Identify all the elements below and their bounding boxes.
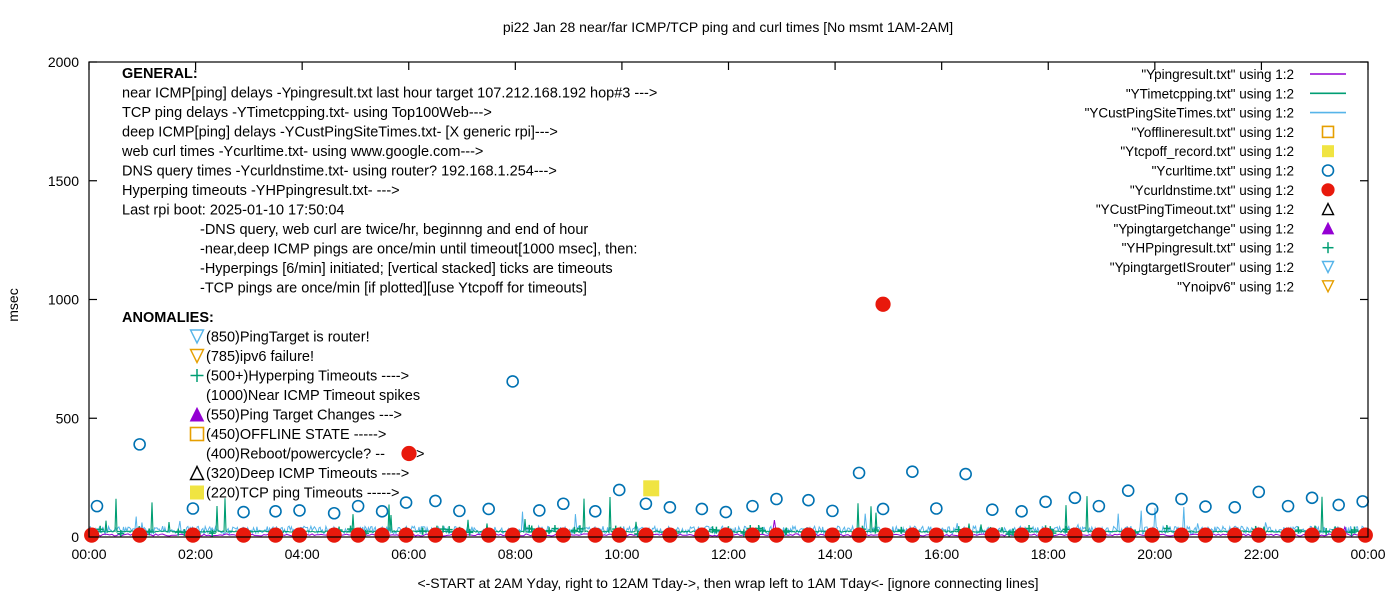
curldnstime-point	[1281, 528, 1295, 542]
curltime-point	[483, 503, 494, 514]
curltime-point	[720, 507, 731, 518]
curldnstime-point	[236, 528, 250, 542]
curldnstime-point	[879, 528, 893, 542]
x-tick-label: 08:00	[498, 546, 533, 562]
curldnstime-point	[825, 528, 839, 542]
curltime-point	[664, 502, 675, 513]
legend-marker	[1323, 204, 1334, 215]
curldnstime-point	[1358, 528, 1372, 542]
curltime-point	[1147, 503, 1158, 514]
curltime-point	[1040, 496, 1051, 507]
legend-label: "YHPpingresult.txt" using 1:2	[1122, 241, 1294, 256]
x-tick-label: 14:00	[818, 546, 853, 562]
y-tick-label: 1500	[48, 173, 79, 189]
general-indented-line: -DNS query, web curl are twice/hr, begin…	[200, 222, 588, 238]
curltime-point	[1176, 494, 1187, 505]
curltime-point	[134, 439, 145, 450]
curltime-point	[1229, 502, 1240, 513]
legend-label: "YpingtargetISrouter" using 1:2	[1110, 260, 1294, 275]
curltime-point	[507, 376, 518, 387]
curldnstime-point	[556, 528, 570, 542]
y-tick-label: 1000	[48, 292, 79, 308]
y-tick-label: 500	[56, 410, 80, 426]
y-axis-label: msec	[5, 288, 21, 321]
curldnstime-point	[1198, 528, 1212, 542]
curltime-point	[401, 497, 412, 508]
curltime-point	[454, 505, 465, 516]
anomaly-marker	[191, 486, 204, 499]
curldnstime-point	[186, 528, 200, 542]
curldnstime-point	[1121, 528, 1135, 542]
x-tick-label: 12:00	[711, 546, 746, 562]
legend-label: "Ycurltime.txt" using 1:2	[1152, 164, 1294, 179]
curldnstime-point	[719, 528, 733, 542]
curldnstime-point	[612, 528, 626, 542]
legend-marker	[1323, 281, 1334, 292]
curldnstime-point	[292, 528, 306, 542]
curldnstime-point	[852, 528, 866, 542]
curltime-point	[430, 495, 441, 506]
curldnstime-point	[1332, 528, 1346, 542]
annotation-general: GENERAL:near ICMP[ping] delays -Ypingres…	[121, 66, 657, 297]
curldnstime-point	[663, 528, 677, 542]
general-indented-line: -TCP pings are once/min [if plotted][use…	[200, 281, 587, 297]
general-line: Last rpi boot: 2025-01-10 17:50:04	[122, 203, 345, 219]
anomaly-label: (500+)Hyperping Timeouts ---->	[206, 369, 409, 385]
legend-label: "YCustPingSiteTimes.txt" using 1:2	[1085, 106, 1294, 121]
curldnstime-point	[375, 528, 389, 542]
legend-marker	[1323, 126, 1334, 137]
curltime-point	[827, 505, 838, 516]
curldnstime-point	[482, 528, 496, 542]
anomaly-label: (550)Ping Target Changes --->	[206, 408, 402, 424]
curltime-point	[907, 466, 918, 477]
curldnstime-point	[85, 528, 99, 542]
curldnstime-point	[532, 528, 546, 542]
curldnstime-point	[133, 528, 147, 542]
anomaly-label: (850)PingTarget is router!	[206, 330, 370, 346]
curldnstime-point	[745, 528, 759, 542]
anomaly-marker	[191, 428, 204, 441]
curltime-point	[329, 508, 340, 519]
legend-label: "YTimetcpping.txt" using 1:2	[1126, 86, 1294, 101]
curltime-point	[590, 506, 601, 517]
curldnstime-point	[588, 528, 602, 542]
anomaly-label: (450)OFFLINE STATE ----->	[206, 427, 386, 443]
legend-marker	[1323, 146, 1334, 157]
curldnstime-point	[268, 528, 282, 542]
curldnstime-point	[905, 528, 919, 542]
x-tick-label: 16:00	[924, 546, 959, 562]
curldnstime-point	[351, 528, 365, 542]
general-line: web curl times -Ycurltime.txt- using www…	[121, 144, 483, 160]
anomalies-heading: ANOMALIES:	[122, 310, 214, 326]
curldnstime-point	[695, 528, 709, 542]
x-tick-label: 20:00	[1137, 546, 1172, 562]
curltime-point	[91, 501, 102, 512]
tcpoff-point	[644, 481, 659, 496]
anomaly-label: (1000)Near ICMP Timeout spikes	[206, 388, 420, 404]
legend-marker	[1323, 223, 1334, 234]
curltime-point	[238, 507, 249, 518]
chart-title: pi22 Jan 28 near/far ICMP/TCP ping and c…	[503, 19, 953, 35]
curldnstime-point	[801, 528, 815, 542]
anomaly-marker	[191, 369, 204, 382]
curldnstime-point	[985, 528, 999, 542]
general-line: Hyperping timeouts -YHPpingresult.txt- -…	[122, 183, 400, 199]
x-tick-label: 02:00	[178, 546, 213, 562]
curltime-point	[696, 503, 707, 514]
y-tick-label: 0	[71, 529, 79, 545]
anomaly-marker	[191, 467, 204, 480]
curltime-point	[1283, 501, 1294, 512]
anomaly-reboot-suffix: >	[416, 447, 424, 463]
chart-root: pi22 Jan 28 near/far ICMP/TCP ping and c…	[0, 0, 1400, 600]
curltime-point	[878, 503, 889, 514]
curltime-point	[614, 484, 625, 495]
anomaly-reboot-marker	[402, 446, 416, 460]
annotation-anomalies: ANOMALIES:(850)PingTarget is router!(785…	[122, 310, 424, 502]
curldnstime-point	[1145, 528, 1159, 542]
x-tick-label: 06:00	[391, 546, 426, 562]
legend-label: "Yofflineresult.txt" using 1:2	[1131, 125, 1294, 140]
curldnstime-point	[1092, 528, 1106, 542]
anomaly-label: (220)TCP ping Timeouts ----->	[206, 486, 400, 502]
curldnstime-point	[452, 528, 466, 542]
legend-label: "YCustPingTimeout.txt" using 1:2	[1096, 202, 1294, 217]
curldnstime-point	[1038, 528, 1052, 542]
ping-times-chart: pi22 Jan 28 near/far ICMP/TCP ping and c…	[0, 0, 1400, 600]
curldnstime-point	[1015, 528, 1029, 542]
general-line: deep ICMP[ping] delays -YCustPingSiteTim…	[122, 125, 558, 141]
curldnstime-point	[929, 528, 943, 542]
curltime-point	[270, 506, 281, 517]
legend-label: "Ypingresult.txt" using 1:2	[1141, 67, 1294, 82]
x-tick-label: 10:00	[604, 546, 639, 562]
curltime-point	[931, 503, 942, 514]
legend-label: "Ynoipv6" using 1:2	[1177, 279, 1294, 294]
anomaly-marker	[191, 408, 204, 421]
general-indented-line: -near,deep ICMP pings are once/min until…	[200, 242, 637, 258]
anomaly-marker	[191, 330, 204, 343]
curldnstime-point	[1305, 528, 1319, 542]
legend-marker	[1323, 242, 1334, 253]
curltime-point	[987, 504, 998, 515]
curltime-point	[1357, 496, 1368, 507]
curldnstime-point	[1174, 528, 1188, 542]
curltime-point	[558, 498, 569, 509]
x-tick-label: 00:00	[71, 546, 106, 562]
curltime-point	[1016, 506, 1027, 517]
x-tick-label: 22:00	[1244, 546, 1279, 562]
curldnstime-point	[506, 528, 520, 542]
general-line: DNS query times -Ycurldnstime.txt- using…	[122, 164, 557, 180]
curldnstime-point	[1252, 528, 1266, 542]
x-tick-label: 04:00	[285, 546, 320, 562]
curldnstime-point	[959, 528, 973, 542]
curldnstime-point	[639, 528, 653, 542]
curltime-point	[771, 494, 782, 505]
chart-legend: "Ypingresult.txt" using 1:2"YTimetcpping…	[1085, 67, 1346, 294]
curltime-point	[1307, 492, 1318, 503]
curldnstime-point	[327, 528, 341, 542]
x-axis-label: <-START at 2AM Yday, right to 12AM Tday-…	[417, 575, 1038, 591]
curldnstime-point	[1228, 528, 1242, 542]
general-line: near ICMP[ping] delays -Ypingresult.txt …	[122, 86, 657, 102]
curltime-point	[1253, 486, 1264, 497]
curltime-point	[803, 495, 814, 506]
curldnstime-point	[876, 297, 890, 311]
y-tick-label: 2000	[48, 54, 79, 70]
curltime-point	[747, 501, 758, 512]
legend-marker	[1322, 184, 1334, 196]
curltime-point	[854, 467, 865, 478]
curltime-point	[1093, 501, 1104, 512]
curltime-point	[377, 506, 388, 517]
curltime-point	[1333, 499, 1344, 510]
anomaly-label: (785)ipv6 failure!	[206, 349, 314, 365]
curltime-point	[294, 505, 305, 516]
general-line: TCP ping delays -YTimetcpping.txt- using…	[122, 105, 492, 121]
curltime-point	[187, 503, 198, 514]
hyperping-tick	[898, 527, 905, 534]
curltime-point	[1200, 501, 1211, 512]
anomaly-marker	[191, 350, 204, 363]
legend-label: "Ypingtargetchange" using 1:2	[1114, 221, 1294, 236]
curldnstime-point	[428, 528, 442, 542]
general-heading: GENERAL:	[122, 66, 198, 82]
curldnstime-point	[399, 528, 413, 542]
general-indented-line: -Hyperpings [6/min] initiated; [vertical…	[200, 261, 613, 277]
curltime-point	[960, 469, 971, 480]
curltime-point	[353, 501, 364, 512]
legend-label: "Ytcpoff_record.txt" using 1:2	[1120, 144, 1294, 159]
curltime-point	[1069, 492, 1080, 503]
legend-marker	[1323, 165, 1334, 176]
curltime-point	[1123, 485, 1134, 496]
legend-marker	[1323, 262, 1334, 273]
curldnstime-point	[769, 528, 783, 542]
curltime-point	[640, 498, 651, 509]
anomaly-label: (400)Reboot/powercycle? --	[206, 447, 385, 463]
x-tick-label: 00:00	[1350, 546, 1385, 562]
curltime-point	[534, 505, 545, 516]
anomaly-label: (320)Deep ICMP Timeouts ---->	[206, 466, 409, 482]
x-tick-label: 18:00	[1031, 546, 1066, 562]
curldnstime-point	[1068, 528, 1082, 542]
legend-label: "Ycurldnstime.txt" using 1:2	[1130, 183, 1294, 198]
